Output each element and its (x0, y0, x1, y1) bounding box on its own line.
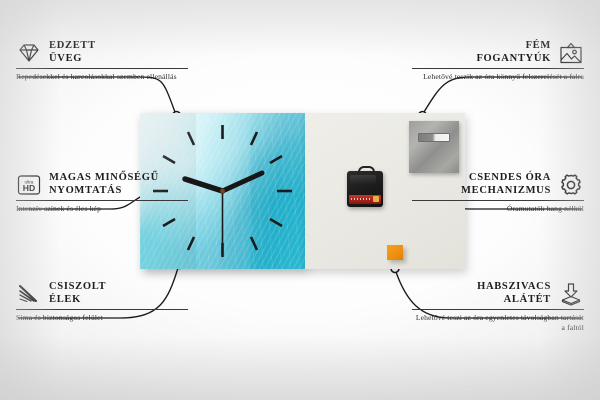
feature-title-line1: MAGAS MINŐSÉGŰ (49, 172, 159, 185)
feature-divider (412, 200, 584, 201)
feature-foam-pad: HABSZIVACS ALÁTÉT Lehetővé teszi az óra … (412, 281, 584, 332)
clock-mechanism-box (347, 171, 383, 207)
diamond-icon (16, 41, 42, 65)
feature-subtitle: Repedésekkel és karcolásokkal szemben el… (16, 72, 188, 82)
ultra-hd-badge-icon: ultra HD (16, 173, 42, 197)
feature-divider (16, 309, 188, 310)
feature-title-line2: ALÁTÉT (477, 294, 551, 307)
feature-divider (16, 68, 188, 69)
feature-divider (16, 200, 188, 201)
feature-title-line1: HABSZIVACS (477, 281, 551, 294)
clock-center-cap (220, 189, 225, 194)
foam-spacer-pad (387, 245, 403, 260)
feature-quiet-mechanism: CSENDES ÓRA MECHANIZMUS Óramutatók hang … (412, 172, 584, 214)
clock-hour-hand (185, 179, 223, 191)
feature-title-line2: ÜVEG (49, 53, 96, 66)
battery-plus-terminal (373, 196, 379, 202)
foam-arrow-icon (558, 282, 584, 306)
feature-title-line2: MECHANIZMUS (461, 185, 551, 198)
feature-high-quality-print: ultra HD MAGAS MINŐSÉGŰ NYOMTATÁS Intenz… (16, 172, 188, 214)
feature-title-line2: ÉLEK (49, 294, 106, 307)
feature-divider (412, 309, 584, 310)
hanging-picture-icon (558, 41, 584, 65)
connector-tempered-glass (18, 77, 175, 112)
battery-label (351, 198, 371, 200)
polished-edge-icon (16, 282, 42, 306)
feature-subtitle: Lehetővé teszi az óra egyenletes távolsá… (412, 313, 584, 332)
gear-icon (558, 173, 584, 197)
metal-hanger-plate (409, 121, 459, 173)
feature-title-line1: FÉM (476, 40, 551, 53)
feature-polished-edges: CSISZOLT ÉLEK Sima és biztonságos felüle… (16, 281, 188, 323)
ultra-hd-bottom-text: HD (23, 183, 35, 193)
feature-tempered-glass: EDZETT ÜVEG Repedésekkel és karcolásokka… (16, 40, 188, 82)
feature-title-line1: CSISZOLT (49, 281, 106, 294)
feature-subtitle: Lehetővé teszik az óra könnyű felszerelé… (412, 72, 584, 82)
feature-metal-handles: FÉM FOGANTYÚK Lehetővé teszik az óra kön… (412, 40, 584, 82)
connector-handles (424, 77, 582, 112)
mechanism-highlight (350, 175, 376, 185)
infographic-canvas: EDZETT ÜVEG Repedésekkel és karcolásokka… (0, 0, 600, 400)
battery (349, 195, 381, 204)
feature-divider (412, 68, 584, 69)
hanger-slot (418, 133, 450, 142)
feature-title-line2: FOGANTYÚK (476, 53, 551, 66)
feature-subtitle: Sima és biztonságos felület (16, 313, 188, 323)
clock-minute-hand (223, 173, 263, 191)
feature-title-line2: NYOMTATÁS (49, 185, 159, 198)
mechanism-shaft (358, 166, 375, 175)
feature-subtitle: Intenzív színek és éles kép (16, 204, 188, 214)
feature-subtitle: Óramutatók hang nélkül (412, 204, 584, 214)
feature-title-line1: CSENDES ÓRA (461, 172, 551, 185)
feature-title-line1: EDZETT (49, 40, 96, 53)
